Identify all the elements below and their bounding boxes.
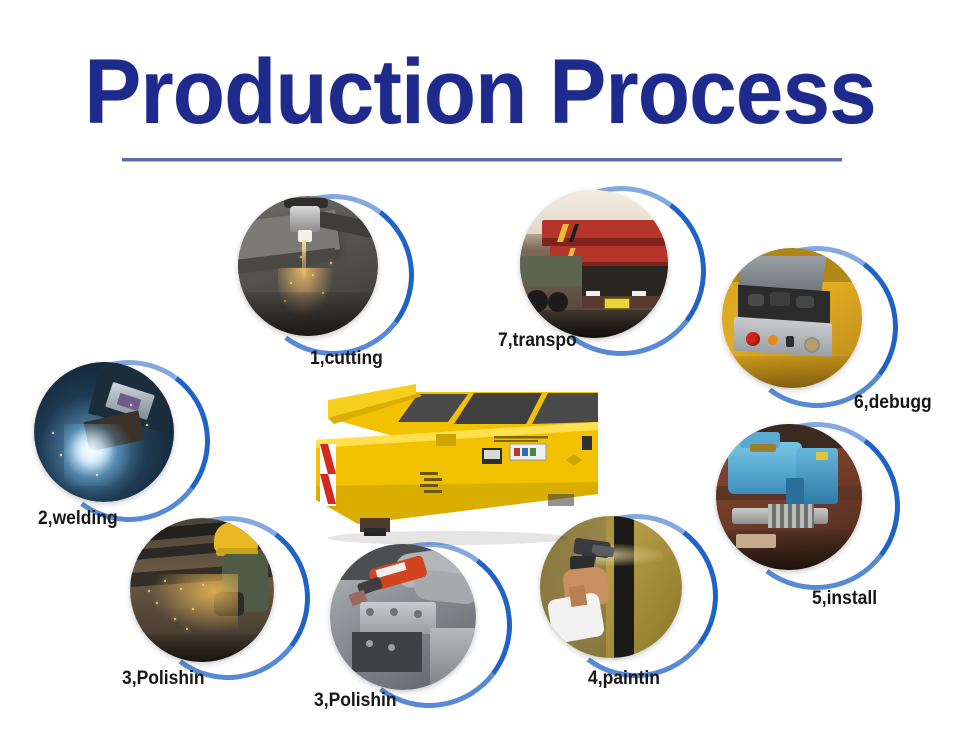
step-label-debugging: 6,debugg (854, 392, 932, 414)
step-node-install[interactable]: 5,install (716, 424, 888, 590)
step-label-install: 5,install (812, 588, 877, 610)
step-photo-debugging (722, 248, 862, 388)
production-process-poster: Production Process (0, 0, 960, 739)
step-node-polishing-b[interactable]: 3,Polishin (330, 544, 506, 706)
step-photo-transport (520, 190, 668, 338)
step-node-transport[interactable]: 7,transpo (520, 190, 692, 354)
step-photo-polishing-a (130, 518, 274, 662)
step-node-polishing-a[interactable]: 3,Polishin (130, 518, 298, 682)
rail-transfer-cart-illustration (298, 378, 598, 546)
title-underline (122, 158, 842, 161)
step-label-cutting: 1,cutting (310, 348, 383, 370)
step-node-cutting[interactable]: 1,cutting (238, 196, 396, 354)
step-photo-polishing-b (330, 544, 476, 690)
step-label-transport: 7,transpo (498, 330, 577, 352)
step-label-welding: 2,welding (38, 508, 118, 530)
title-block: Production Process (0, 46, 960, 140)
center-product-image (298, 378, 598, 546)
step-node-debugging[interactable]: 6,debugg (722, 248, 888, 408)
step-label-painting: 4,paintin (588, 668, 660, 690)
page-title: Production Process (34, 46, 927, 140)
step-label-polishing-b: 3,Polishin (314, 690, 397, 712)
step-label-polishing-a: 3,Polishin (122, 668, 205, 690)
step-photo-install (716, 424, 862, 570)
step-photo-welding (34, 362, 174, 502)
step-node-welding[interactable]: 2,welding (34, 362, 196, 522)
step-photo-cutting (238, 196, 378, 336)
